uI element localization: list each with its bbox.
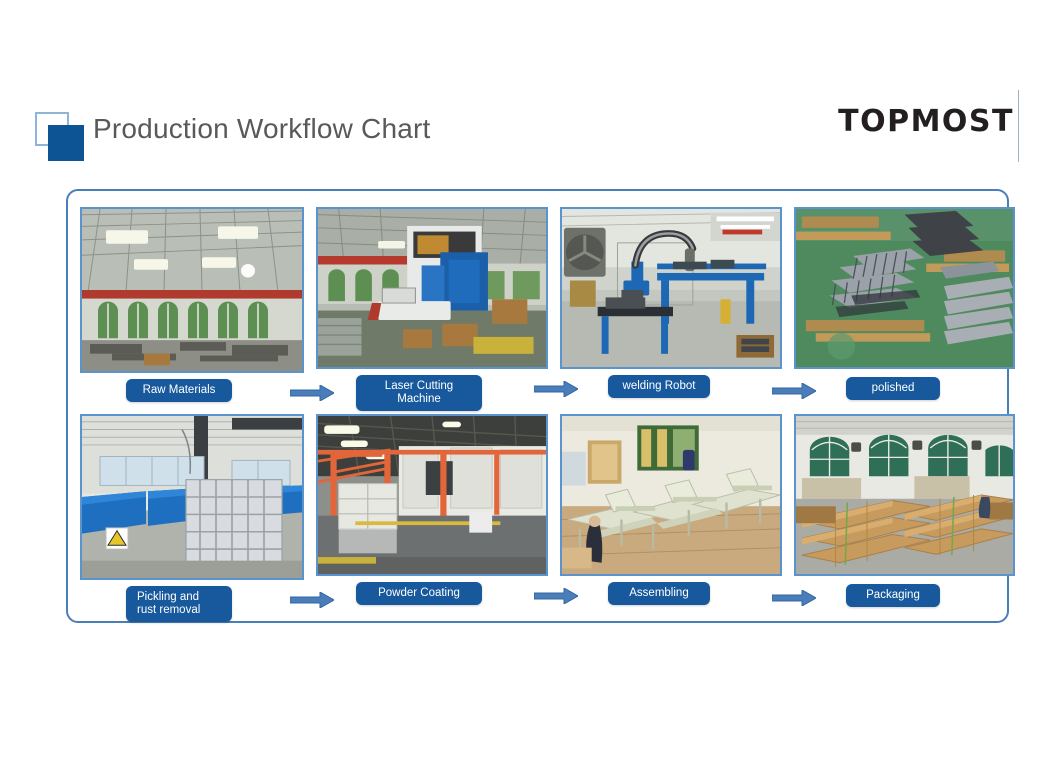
step-label-chip[interactable]: Pickling and rust removal: [126, 586, 232, 622]
step-photo-assembly-workbenches: [560, 414, 782, 576]
title-decoration-icon: [35, 112, 85, 162]
step-label-chip[interactable]: Powder Coating: [356, 582, 482, 605]
step-photo-polished-metal-parts-stack: [794, 207, 1015, 369]
workflow-row-2: Pickling and rust removal: [68, 404, 1007, 609]
arrow-right-icon: [534, 381, 578, 397]
step-photo-packaged-cartons-stack: [794, 414, 1015, 576]
arrow-right-icon: [772, 590, 816, 606]
step-label-chip[interactable]: Packaging: [846, 584, 940, 607]
brand-logo: TOPMOST: [838, 104, 1014, 140]
step-photo-pickling-tanks: [80, 414, 304, 580]
arrow-right-icon: [290, 592, 334, 608]
step-photo-laser-cutting-machine: [316, 207, 548, 369]
step-label-chip[interactable]: Raw Materials: [126, 379, 232, 402]
step-label-chip[interactable]: polished: [846, 377, 940, 400]
solid-square-icon: [48, 125, 84, 161]
step-photo-welding-robot-cell: [560, 207, 782, 369]
workflow-frame: Raw Materials: [66, 189, 1009, 623]
step-label-chip[interactable]: welding Robot: [608, 375, 710, 398]
brand-logo-text: TOPMOST: [838, 107, 1014, 137]
page-title: Production Workflow Chart: [93, 113, 431, 145]
step-photo-powder-coating-line: [316, 414, 548, 576]
arrow-right-icon: [772, 383, 816, 399]
brand-divider: [1018, 90, 1019, 162]
step-photo-factory-workshop-interior: [80, 207, 304, 373]
arrow-right-icon: [290, 385, 334, 401]
workflow-row-1: Raw Materials: [68, 197, 1007, 402]
page-header: Production Workflow Chart TOPMOST: [0, 0, 1060, 70]
arrow-right-icon: [534, 588, 578, 604]
step-label-chip[interactable]: Assembling: [608, 582, 710, 605]
